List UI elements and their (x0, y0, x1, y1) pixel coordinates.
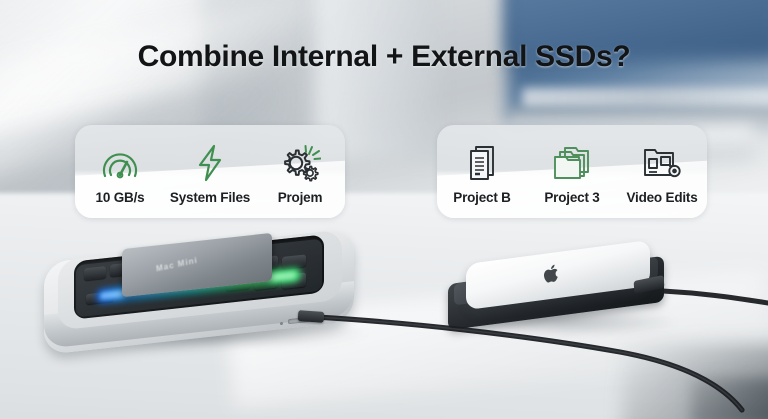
promo-image: Combine Internal + External SSDs? 10 GB/… (0, 0, 768, 419)
documents-icon (465, 143, 499, 183)
feature-system-files[interactable]: System Files (165, 125, 255, 218)
feature-speed-label: 10 GB/s (96, 190, 145, 205)
external-ssd-contents-card: Project B Project 3 (437, 125, 707, 218)
content-video-edits-label: Video Edits (626, 190, 697, 205)
apple-logo-icon (544, 263, 561, 284)
feature-projects-label: Projem (278, 190, 323, 205)
feature-projects[interactable]: Projem (255, 125, 345, 218)
usb-c-connector (298, 310, 325, 323)
open-mac-mini: Mac Mini (38, 236, 368, 351)
folders-icon (552, 143, 592, 183)
content-video-edits[interactable]: Video Edits (617, 125, 707, 218)
speedometer-icon (100, 143, 140, 183)
feature-system-files-label: System Files (170, 190, 250, 205)
gears-icon (279, 143, 321, 183)
content-project-3-label: Project 3 (544, 190, 599, 205)
closed-mac-mini (448, 250, 688, 342)
content-project-b-label: Project B (453, 190, 510, 205)
background-shadow-corner (691, 377, 768, 419)
lightning-bolt-icon (195, 143, 225, 183)
background-monitor-dock (522, 88, 768, 109)
content-project-3[interactable]: Project 3 (527, 125, 617, 218)
content-project-b[interactable]: Project B (437, 125, 527, 218)
media-folder-icon (642, 143, 682, 183)
feature-speed[interactable]: 10 GB/s (75, 125, 165, 218)
internal-ssd-features-card: 10 GB/s System Files (75, 125, 345, 218)
page-title: Combine Internal + External SSDs? (0, 40, 768, 74)
